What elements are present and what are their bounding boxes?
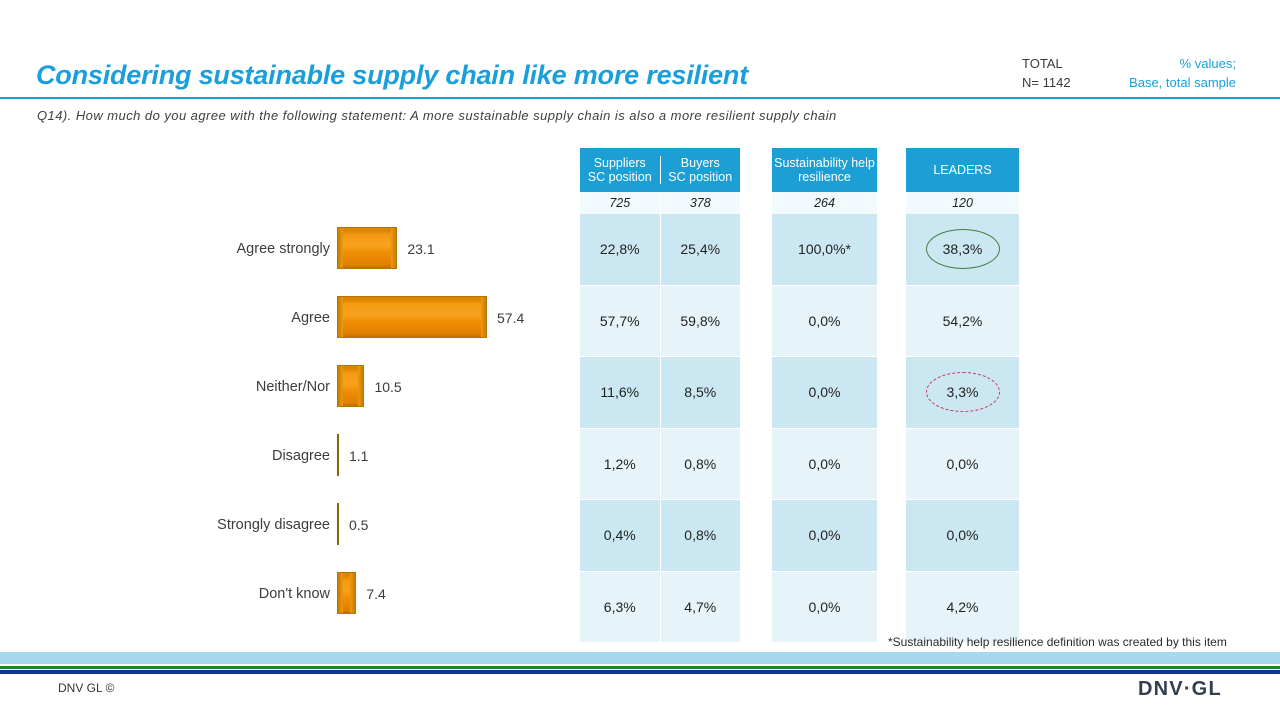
table-row: 0,0% (906, 499, 1019, 571)
bar (337, 503, 339, 545)
table-cell-suppliers: 57,7% (580, 286, 660, 357)
bar-category-label: Neither/Nor (0, 379, 330, 395)
bar (337, 365, 364, 407)
table-cell-leaders: 54,2% (906, 286, 1019, 357)
table-cell-sustainability: 0,0% (772, 572, 877, 643)
table-n-row-sc-position: 725 378 (580, 192, 740, 214)
cell-value: 4,7% (684, 599, 716, 615)
table-row: 0,0% (906, 428, 1019, 500)
bar-wrapper (337, 434, 339, 478)
table-row: 1,2%0,8% (580, 428, 740, 500)
bar-category-label: Don't know (0, 586, 330, 602)
bar-category-label: Strongly disagree (0, 517, 330, 533)
table-row: 38,3% (906, 214, 1019, 285)
bar-value-label: 7.4 (366, 586, 385, 602)
cell-value: 4,2% (947, 599, 979, 615)
bar-row: Strongly disagree0.5 (0, 491, 560, 559)
cell-value: 0,0% (809, 599, 841, 615)
title-divider (0, 97, 1280, 99)
bar-row: Don't know7.4 (0, 560, 560, 628)
page-title: Considering sustainable supply chain lik… (36, 60, 748, 91)
bar-wrapper (337, 503, 339, 547)
cell-value: 0,0% (809, 313, 841, 329)
cell-value: 54,2% (943, 313, 983, 329)
cell-value: 0,0% (809, 527, 841, 543)
table-cell-leaders: 4,2% (906, 572, 1019, 643)
cell-value: 0,4% (604, 527, 636, 543)
bar-value-label: 0.5 (349, 517, 368, 533)
table-row: 4,2% (906, 571, 1019, 643)
bar (337, 434, 339, 476)
table-row: 57,7%59,8% (580, 285, 740, 357)
cell-value: 11,6% (600, 384, 639, 400)
bar-wrapper (337, 365, 364, 409)
dnv-gl-logo: DNV·GL (1138, 678, 1222, 701)
bar-row: Neither/Nor10.5 (0, 353, 560, 421)
table-cell-buyers: 4,7% (660, 572, 741, 643)
table-group-sustainability: Sustainability help resilience 264 100,0… (772, 148, 877, 642)
table-cell-sustainability: 0,0% (772, 429, 877, 500)
cell-value: 25,4% (680, 241, 720, 257)
bar-chart: Agree strongly23.1Agree57.4Neither/Nor10… (0, 215, 560, 635)
footnote: *Sustainability help resilience definiti… (888, 635, 1227, 649)
n-value-buyers: 378 (660, 192, 741, 214)
column-header-buyers-line1: Buyers (681, 156, 720, 170)
table-cell-suppliers: 6,3% (580, 572, 660, 643)
values-note-line1: % values; (1112, 54, 1236, 73)
table-n-row-sustainability: 264 (772, 192, 877, 214)
table-row: 6,3%4,7% (580, 571, 740, 643)
table-cell-suppliers: 1,2% (580, 429, 660, 500)
column-header-sustainability-line2: resilience (798, 170, 851, 184)
table-row: 0,0% (772, 571, 877, 643)
cell-value: 0,0% (947, 456, 979, 472)
bar (337, 572, 356, 614)
table-row: 0,0% (772, 356, 877, 428)
table-cell-sustainability: 0,0% (772, 500, 877, 571)
bar (337, 227, 397, 269)
table-row: 54,2% (906, 285, 1019, 357)
table-cell-sustainability: 0,0% (772, 357, 877, 428)
table-row: 0,0% (772, 428, 877, 500)
footer-band-navy (0, 670, 1280, 674)
cell-value: 3,3% (947, 384, 979, 400)
bar-value-label: 1.1 (349, 448, 368, 464)
column-header-buyers-line2: SC position (668, 170, 732, 184)
cell-value: 57,7% (600, 313, 640, 329)
bar-value-label: 10.5 (374, 379, 401, 395)
cell-value: 6,3% (604, 599, 636, 615)
column-header-sustainability-line1: Sustainability help (774, 156, 875, 170)
cell-value: 59,8% (680, 313, 720, 329)
n-value-suppliers: 725 (580, 192, 660, 214)
table-body-sc-position: 22,8%25,4%57,7%59,8%11,6%8,5%1,2%0,8%0,4… (580, 214, 740, 642)
column-header-sustainability: Sustainability help resilience (772, 148, 877, 192)
table-cell-buyers: 25,4% (660, 214, 741, 285)
column-header-suppliers-line2: SC position (588, 170, 652, 184)
cell-value: 0,0% (809, 456, 841, 472)
table-cell-leaders: 0,0% (906, 500, 1019, 571)
table-cell-leaders: 0,0% (906, 429, 1019, 500)
bar-row: Disagree1.1 (0, 422, 560, 490)
table-cell-buyers: 0,8% (660, 429, 741, 500)
question-subtitle: Q14). How much do you agree with the fol… (37, 108, 837, 123)
cell-value: 38,3% (943, 241, 983, 257)
bar-category-label: Disagree (0, 448, 330, 464)
table-row: 22,8%25,4% (580, 214, 740, 285)
table-row: 11,6%8,5% (580, 356, 740, 428)
table-cell-buyers: 0,8% (660, 500, 741, 571)
bar (337, 296, 487, 338)
table-cell-buyers: 59,8% (660, 286, 741, 357)
bar-wrapper (337, 572, 356, 616)
column-header-suppliers-line1: Suppliers (594, 156, 646, 170)
bar-category-label: Agree (0, 310, 330, 326)
bar-value-label: 57.4 (497, 310, 524, 326)
table-cell-buyers: 8,5% (660, 357, 741, 428)
footer-band-blue (0, 652, 1280, 664)
table-cell-suppliers: 0,4% (580, 500, 660, 571)
bar-row: Agree strongly23.1 (0, 215, 560, 283)
cell-value: 0,0% (809, 384, 841, 400)
n-value-sustainability: 264 (772, 192, 877, 214)
n-value-leaders: 120 (906, 192, 1019, 214)
cell-value: 0,8% (684, 456, 716, 472)
total-base-info: TOTAL N= 1142 (1022, 54, 1071, 92)
table-cell-sustainability: 100,0%* (772, 214, 877, 285)
bar-row: Agree57.4 (0, 284, 560, 352)
n-label: N= 1142 (1022, 73, 1071, 92)
cell-value: 22,8% (600, 241, 640, 257)
table-row: 0,0% (772, 499, 877, 571)
slide-root: Considering sustainable supply chain lik… (0, 0, 1280, 720)
bar-value-label: 23.1 (407, 241, 434, 257)
cell-value: 8,5% (684, 384, 716, 400)
values-note: % values; Base, total sample (1112, 54, 1236, 92)
table-body-leaders: 38,3%54,2%3,3%0,0%0,0%4,2% (906, 214, 1019, 642)
column-header-leaders-line1: LEADERS (933, 163, 991, 177)
table-cell-sustainability: 0,0% (772, 286, 877, 357)
copyright-text: DNV GL © (58, 681, 114, 695)
cell-value: 100,0%* (798, 241, 851, 257)
table-cell-leaders: 38,3% (906, 214, 1019, 285)
cell-value: 0,8% (684, 527, 716, 543)
table-group-sc-position: Suppliers SC position Buyers SC position… (580, 148, 740, 642)
table-row: 0,4%0,8% (580, 499, 740, 571)
bar-category-label: Agree strongly (0, 241, 330, 257)
column-header-buyers: Buyers SC position (660, 156, 741, 184)
bar-wrapper (337, 296, 487, 340)
table-row: 0,0% (772, 285, 877, 357)
column-header-leaders: LEADERS (906, 148, 1019, 192)
bar-wrapper (337, 227, 397, 271)
column-header-suppliers: Suppliers SC position (580, 156, 660, 184)
cell-value: 0,0% (947, 527, 979, 543)
table-n-row-leaders: 120 (906, 192, 1019, 214)
table-group-leaders: LEADERS 120 38,3%54,2%3,3%0,0%0,0%4,2% (906, 148, 1019, 642)
table-cell-suppliers: 11,6% (580, 357, 660, 428)
table-body-sustainability: 100,0%*0,0%0,0%0,0%0,0%0,0% (772, 214, 877, 642)
total-label: TOTAL (1022, 54, 1071, 73)
table-header-sc-position: Suppliers SC position Buyers SC position (580, 148, 740, 192)
table-cell-leaders: 3,3% (906, 357, 1019, 428)
cell-value: 1,2% (604, 456, 636, 472)
table-cell-suppliers: 22,8% (580, 214, 660, 285)
values-note-line2: Base, total sample (1112, 73, 1236, 92)
table-row: 100,0%* (772, 214, 877, 285)
table-row: 3,3% (906, 356, 1019, 428)
